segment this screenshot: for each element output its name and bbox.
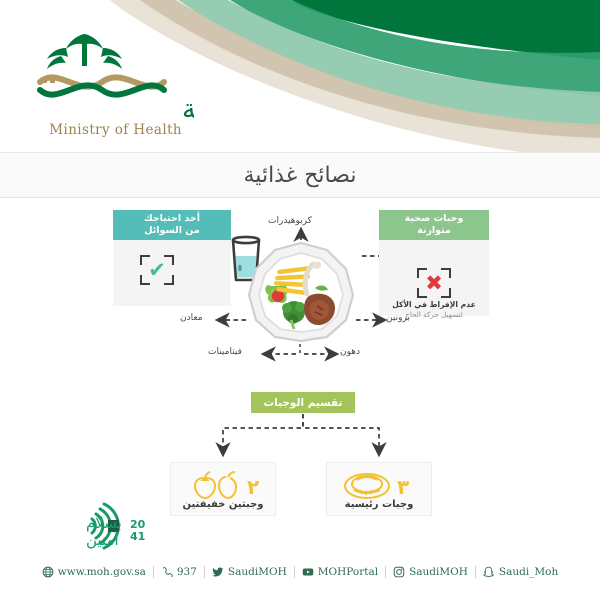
logo-english-text: Ministry of Health xyxy=(49,122,182,138)
meal-split-chip: تقسيم الوجبات xyxy=(251,392,355,413)
check-mark-icon: ✔ xyxy=(140,255,174,285)
meal-card-mains-label: وجبات رئيسية xyxy=(345,499,414,510)
twitter-icon xyxy=(212,566,224,578)
peace-logo-line1: بسلام xyxy=(86,514,122,532)
instagram-icon xyxy=(393,566,405,578)
overeating-caption-line1: عدم الإفراط في الأكل xyxy=(379,300,489,310)
mains-number: ٣ xyxy=(397,475,409,499)
page-title-band: نصائح غذائية xyxy=(0,152,600,198)
snacks-number: ٢ xyxy=(247,475,259,499)
overeating-caption-line2: لتسهيل حركة الحاج xyxy=(379,310,489,320)
nutrient-label-vitamins: فيتامينات xyxy=(208,347,242,357)
footer-instagram[interactable]: SaudiMOH xyxy=(386,566,475,578)
balanced-plate-illustration xyxy=(243,240,359,344)
footer-snapchat[interactable]: Saudi_Moh xyxy=(476,566,565,578)
logo-arabic-text: وزارة الصحة xyxy=(182,94,194,125)
footer-twitter[interactable]: SaudiMOH xyxy=(205,566,294,578)
page-title: نصائح غذائية xyxy=(244,163,357,188)
ministry-of-health-logo: وزارة الصحة Ministry of Health xyxy=(14,26,194,138)
balanced-meals-chip: وجبات صحية متوازنة xyxy=(379,210,489,240)
footer-website[interactable]: www.moh.gov.sa xyxy=(35,566,153,578)
footer-snapchat-label: Saudi_Moh xyxy=(499,566,558,578)
globe-icon xyxy=(42,566,54,578)
fluids-chip: أخذ احتياجك من السوائل xyxy=(113,210,231,240)
hajj-peace-logo: 20 41 بسلام آمنين xyxy=(42,500,162,552)
meal-card-snacks: ٢ وجبتين خفيفتين xyxy=(170,462,276,516)
snapchat-icon xyxy=(483,566,495,578)
footer-contact-bar: www.moh.gov.sa 937 SaudiMOH MOHPortal xyxy=(0,558,600,586)
footer-twitter-label: SaudiMOH xyxy=(228,566,287,578)
fluids-chip-line1: أخذ احتياجك xyxy=(144,213,200,226)
nutrient-label-fats: دهون xyxy=(340,347,360,357)
meal-card-mains: ٣ وجبات رئيسية xyxy=(326,462,432,516)
peace-year-bottom: 41 xyxy=(130,530,145,543)
balanced-meals-chip-line1: وجبات صحية xyxy=(405,213,464,226)
nutrient-label-carbs: كربوهيدرات xyxy=(268,216,312,226)
fluids-chip-line2: من السوائل xyxy=(144,225,200,238)
footer-instagram-label: SaudiMOH xyxy=(409,566,468,578)
infographic-page: وزارة الصحة Ministry of Health نصائح غذا… xyxy=(0,0,600,600)
overeating-caption: عدم الإفراط في الأكل لتسهيل حركة الحاج xyxy=(379,300,489,320)
meal-card-snacks-label: وجبتين خفيفتين xyxy=(183,499,264,510)
check-mark-bracket: ✔ xyxy=(140,255,174,285)
footer-website-label: www.moh.gov.sa xyxy=(58,566,146,578)
nutrient-label-minerals: معادن xyxy=(180,313,203,323)
phone-icon xyxy=(161,566,173,578)
youtube-icon xyxy=(302,566,314,578)
meal-plate-icon: ٣ xyxy=(327,468,433,500)
footer-phone-label: 937 xyxy=(177,566,197,578)
footer-youtube[interactable]: MOHPortal xyxy=(295,566,385,578)
fruit-apple-pear-icon: ٢ xyxy=(171,468,277,500)
peace-logo-line2: آمنين xyxy=(86,531,120,549)
cross-mark-bracket: ✖ xyxy=(417,268,451,298)
infographic-canvas: أخذ احتياجك من السوائل ✔ xyxy=(0,196,600,516)
crossed-swords-emblem xyxy=(40,77,164,94)
palm-tree-icon xyxy=(47,34,122,69)
balanced-meals-chip-line2: متوازنة xyxy=(417,225,451,238)
cross-mark-icon: ✖ xyxy=(417,268,451,298)
footer-youtube-label: MOHPortal xyxy=(318,566,378,578)
footer-phone[interactable]: 937 xyxy=(154,566,204,578)
